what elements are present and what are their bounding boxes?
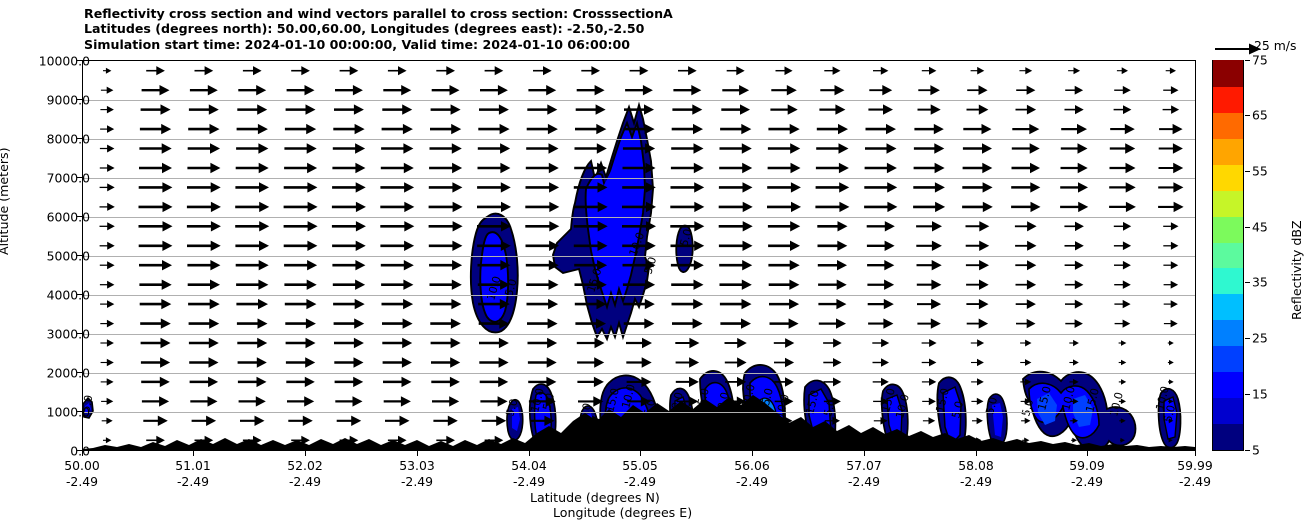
wind-vector-head xyxy=(742,163,752,173)
wind-vector-head xyxy=(1123,86,1131,95)
wind-vector-head xyxy=(156,66,165,75)
wind-vector-head xyxy=(694,163,704,173)
wind-vector-head xyxy=(306,104,316,114)
wind-vector-head xyxy=(401,85,411,95)
wind-vector-head xyxy=(839,182,849,192)
wind-vector-head xyxy=(1077,124,1087,134)
wind-vector-head xyxy=(107,398,114,405)
wind-vector-head xyxy=(693,299,703,309)
wind-vector-head xyxy=(307,280,317,290)
wind-vector-head xyxy=(1075,86,1083,95)
wind-vector-head xyxy=(446,436,455,445)
wind-vector-head xyxy=(404,241,414,251)
wind-vector-head xyxy=(450,357,460,367)
wind-vector-head xyxy=(977,339,984,346)
wind-vector-head xyxy=(499,104,509,114)
xtick-lat-4: 54.04 xyxy=(511,458,546,474)
wind-vector-head xyxy=(1123,320,1131,328)
cb-tick-label-35: 35 xyxy=(1252,275,1268,290)
wind-vector-head xyxy=(356,241,366,251)
wind-vector-head xyxy=(1027,299,1036,309)
wind-vector-head xyxy=(398,66,407,75)
wind-vector-head xyxy=(257,357,267,367)
colorbar-band-2 xyxy=(1213,372,1243,399)
wind-vector-head xyxy=(355,143,365,153)
xtick-mark-10 xyxy=(1195,451,1196,456)
wind-vector-head xyxy=(452,280,462,290)
wind-vector-head xyxy=(500,163,510,173)
wind-vector-head xyxy=(1169,379,1174,384)
wind-vector-head xyxy=(983,182,993,192)
wind-vector-head xyxy=(452,241,462,251)
wind-vector-head xyxy=(258,143,268,153)
xtick-lon-10: -2.49 xyxy=(1177,474,1212,490)
wind-vector-head xyxy=(1171,320,1178,328)
wind-vector-head xyxy=(501,182,511,192)
wind-vector-head xyxy=(1075,222,1084,232)
wind-vector-head xyxy=(257,377,267,387)
cb-tick-label-15: 15 xyxy=(1252,387,1268,402)
wind-vector-head xyxy=(1078,143,1088,153)
wind-vector-head xyxy=(1123,222,1131,231)
wind-vector-head xyxy=(546,85,556,95)
wind-vector-head xyxy=(307,143,317,153)
wind-vector-head xyxy=(107,203,115,211)
wind-vector-head xyxy=(737,338,747,348)
colorbar-band-4 xyxy=(1213,320,1243,347)
wind-vector-head xyxy=(209,318,219,328)
gridline-2000 xyxy=(83,373,1195,374)
wind-vector-head xyxy=(1169,341,1174,346)
wind-vector-head xyxy=(1171,105,1179,114)
wind-vector-head xyxy=(931,104,941,114)
wind-vector-head xyxy=(107,339,114,347)
wind-vector-head xyxy=(1024,438,1029,444)
wind-vector-head xyxy=(547,357,557,367)
wind-vector-head xyxy=(977,359,984,366)
xtick-lon-6: -2.49 xyxy=(734,474,769,490)
wind-vector-head xyxy=(259,182,269,192)
wind-vector-head xyxy=(501,202,511,212)
xtick-mark-6 xyxy=(752,451,753,456)
wind-vector-head xyxy=(210,260,220,270)
y-axis-label: Altitude (meters) xyxy=(0,148,11,255)
wind-vector-head xyxy=(983,202,993,212)
wind-vector-head xyxy=(398,436,407,445)
wind-vector-head xyxy=(789,318,799,328)
wind-vector-head xyxy=(107,145,114,153)
wind-vector-head xyxy=(640,66,649,75)
cb-tick-mark-5 xyxy=(1245,450,1250,451)
wind-vector-head xyxy=(737,357,747,367)
title-line-1: Reflectivity cross section and wind vect… xyxy=(84,6,673,21)
wind-vector-head xyxy=(107,359,114,366)
wind-vector-head xyxy=(935,163,945,173)
wind-vector-head xyxy=(209,104,219,114)
xtick-lat-7: 57.07 xyxy=(846,458,881,474)
wind-vector-head xyxy=(838,221,848,231)
wind-vector-head xyxy=(1126,163,1136,173)
cb-tick-label-75: 75 xyxy=(1252,53,1268,68)
wind-vector-head xyxy=(1171,281,1178,289)
xtick-lat-6: 56.06 xyxy=(734,458,769,474)
gridline-7000 xyxy=(83,178,1195,179)
xtick-lat-10: 59.99 xyxy=(1177,458,1212,474)
wind-vector-head xyxy=(694,143,704,153)
wind-vector-head xyxy=(835,104,845,114)
ytick-mark-2000 xyxy=(77,372,82,373)
wind-vector-head xyxy=(1171,222,1179,230)
wind-vector-head xyxy=(791,163,801,173)
cb-tick-label-65: 65 xyxy=(1252,108,1268,123)
wind-vector-head xyxy=(307,182,317,192)
x-axis-label-longitude: Longitude (degrees E) xyxy=(553,505,692,520)
cb-tick-mark-35 xyxy=(1245,282,1250,283)
wind-vector-head xyxy=(742,280,752,290)
wind-vector-head xyxy=(833,67,841,75)
xtick-lon-4: -2.49 xyxy=(511,474,546,490)
wind-vector-head xyxy=(1125,124,1135,134)
wind-vector-head xyxy=(546,377,556,387)
wind-vector-head xyxy=(402,338,412,348)
wind-vector-head xyxy=(1031,202,1041,212)
ytick-mark-6000 xyxy=(77,216,82,217)
wind-vector-head xyxy=(1025,418,1031,424)
wind-vector-head xyxy=(884,260,894,270)
wind-vector-head xyxy=(929,67,936,75)
wind-vector-head xyxy=(885,221,895,231)
wind-vector-head xyxy=(739,85,749,95)
wind-vector-head xyxy=(402,357,412,367)
wind-vector-head xyxy=(1125,143,1135,153)
wind-vector-head xyxy=(161,338,171,348)
wind-vector-head xyxy=(693,318,703,328)
wind-vector-head xyxy=(1030,163,1040,173)
ytick-mark-7000 xyxy=(77,177,82,178)
wind-vector-head xyxy=(356,221,366,231)
wind-vector-head xyxy=(836,299,846,309)
colorbar-band-12 xyxy=(1213,112,1243,139)
wind-vector-head xyxy=(306,299,316,309)
wind-vector-head xyxy=(161,124,171,134)
colorbar-band-10 xyxy=(1213,164,1243,191)
wind-vector-head xyxy=(156,436,165,445)
wind-vector-head xyxy=(253,66,262,75)
gridline-8000 xyxy=(83,139,1195,140)
wind-vector-head xyxy=(306,318,316,328)
wind-vector-head xyxy=(308,221,318,231)
wind-vector-head xyxy=(549,202,559,212)
ytick-label-6000: 6000.0 xyxy=(47,210,90,225)
wind-vector-head xyxy=(1073,359,1079,365)
xtick-lat-9: 59.09 xyxy=(1069,458,1104,474)
wind-vector-head xyxy=(790,241,800,251)
wind-vector-head xyxy=(883,318,893,328)
wind-vector-head xyxy=(694,182,704,192)
wind-vector-head xyxy=(1174,202,1184,212)
wind-vector-head xyxy=(743,182,753,192)
wind-vector-head xyxy=(642,357,652,367)
figure-canvas: Reflectivity cross section and wind vect… xyxy=(0,0,1304,526)
wind-vector-head xyxy=(355,280,365,290)
ytick-mark-5000 xyxy=(77,255,82,256)
ytick-label-1000: 1000.0 xyxy=(47,405,90,420)
wind-vector-head xyxy=(107,242,115,250)
colorbar-band-7 xyxy=(1213,242,1243,269)
wind-vector-head xyxy=(1025,359,1031,366)
wind-vector-head xyxy=(1122,67,1128,74)
wind-vector-head xyxy=(597,143,607,153)
wind-vector-head xyxy=(106,68,112,74)
colorbar-band-5 xyxy=(1213,294,1243,321)
wind-vector-head xyxy=(787,85,797,95)
wind-vector-head xyxy=(403,318,413,328)
wind-vector-head xyxy=(791,202,801,212)
wind-vector-head xyxy=(158,416,168,426)
wind-vector-head xyxy=(1121,360,1126,366)
wind-vector-head xyxy=(1027,86,1036,95)
xtick-mark-8 xyxy=(976,451,977,456)
title-line-2: Latitudes (degrees north): 50.00,60.00, … xyxy=(84,21,673,36)
wind-vector-head xyxy=(401,396,411,406)
wind-vector-head xyxy=(837,280,847,290)
wind-vector-head xyxy=(934,143,944,153)
xtick-group-4: 54.04 -2.49 xyxy=(511,458,546,489)
wind-vector-head xyxy=(496,416,506,426)
wind-vector-head xyxy=(305,85,315,95)
wind-vector-head xyxy=(839,163,849,173)
wind-vector-head xyxy=(404,182,414,192)
wind-vector-head xyxy=(694,221,704,231)
wind-vector-head xyxy=(791,182,801,192)
wind-vector-head xyxy=(356,182,366,192)
wind-vector-head xyxy=(1027,260,1036,270)
xtick-lon-0: -2.49 xyxy=(64,474,99,490)
wind-vector-head xyxy=(107,87,114,94)
wind-vector-head xyxy=(210,143,220,153)
wind-vector-head xyxy=(645,124,655,134)
wind-vector-head xyxy=(1121,340,1126,346)
wind-vector-head xyxy=(162,163,172,173)
cb-tick-label-45: 45 xyxy=(1252,220,1268,235)
wind-vector-head xyxy=(931,280,941,290)
wind-vector-head xyxy=(839,143,849,153)
wind-vector-head xyxy=(549,182,559,192)
wind-vector-head xyxy=(1173,163,1183,173)
wind-vector-head xyxy=(355,299,365,309)
wind-vector-head xyxy=(836,318,846,328)
wind-vector-head xyxy=(257,338,267,348)
wind-vector-head xyxy=(785,358,794,368)
wind-vector-head xyxy=(208,396,218,406)
xtick-mark-9 xyxy=(1087,451,1088,456)
wind-vector-head xyxy=(353,377,363,387)
wind-vector-head xyxy=(162,241,172,251)
wind-vector-head xyxy=(162,280,172,290)
wind-vector-head xyxy=(107,300,114,308)
wind-vector-head xyxy=(548,318,558,328)
wind-vector-head xyxy=(500,143,510,153)
wind-vector-head xyxy=(161,104,171,114)
xtick-mark-2 xyxy=(305,451,306,456)
wind-vector-head xyxy=(693,124,703,134)
reflectivity-colorbar[interactable] xyxy=(1212,60,1244,451)
wind-vector-head xyxy=(301,66,310,75)
cb-tick-label-25: 25 xyxy=(1252,331,1268,346)
wind-vector-head xyxy=(1075,105,1084,114)
wind-vector-head xyxy=(1173,124,1183,134)
wind-vector-head xyxy=(404,202,414,212)
wind-vector-head xyxy=(886,124,896,134)
ytick-mark-1000 xyxy=(77,411,82,412)
wind-vector-head xyxy=(742,260,752,270)
wind-vector-head xyxy=(1075,319,1083,328)
wind-vector-head xyxy=(107,164,115,172)
wind-vector-head xyxy=(400,416,410,426)
wind-vector-head xyxy=(499,357,509,367)
xtick-lat-1: 51.01 xyxy=(175,458,210,474)
wind-vector-head xyxy=(982,163,992,173)
wind-vector-head xyxy=(979,85,988,95)
wind-vector-head xyxy=(549,280,559,290)
wind-vector-head xyxy=(644,104,654,114)
wind-vector-head xyxy=(355,260,365,270)
wind-vector-head xyxy=(742,299,752,309)
xtick-group-3: 53.03 -2.49 xyxy=(399,458,434,489)
wind-vector-head xyxy=(350,66,359,75)
ytick-mark-8000 xyxy=(77,138,82,139)
wind-vector-head xyxy=(450,377,460,387)
ytick-label-5000: 5000.0 xyxy=(47,249,90,264)
wind-vector-head xyxy=(256,396,266,406)
colorbar-band-9 xyxy=(1213,190,1243,217)
wind-vector-head xyxy=(209,338,219,348)
wind-vector-head xyxy=(353,396,363,406)
wind-vector-head xyxy=(885,241,895,251)
wind-vector-head xyxy=(694,241,704,251)
colorbar-band-6 xyxy=(1213,268,1243,295)
wind-vector-head xyxy=(259,202,269,212)
wind-vector-head xyxy=(106,437,112,443)
wind-vector-head xyxy=(301,436,310,445)
wind-vector-head xyxy=(839,202,849,212)
wind-vector-head xyxy=(1170,68,1176,75)
wind-vector-head xyxy=(982,143,992,153)
wind-vector-head xyxy=(403,299,413,309)
gridline-4000 xyxy=(83,295,1195,296)
wind-vector-head xyxy=(107,106,114,114)
xtick-mark-5 xyxy=(640,451,641,456)
wind-vector-head xyxy=(1126,182,1136,192)
ytick-label-7000: 7000.0 xyxy=(47,171,90,186)
wind-vector-head xyxy=(594,377,604,387)
wind-vector-head xyxy=(881,378,889,386)
xtick-group-10: 59.99 -2.49 xyxy=(1177,458,1212,489)
wind-vector-head xyxy=(596,124,606,134)
wind-vector-head xyxy=(977,67,984,75)
wind-vector-head xyxy=(257,104,267,114)
wind-vector-head xyxy=(402,377,412,387)
wind-vector-head xyxy=(694,280,704,290)
wind-vector-head xyxy=(979,319,988,329)
wind-vector-head xyxy=(209,357,219,367)
wind-vector-head xyxy=(208,377,218,387)
xtick-mark-1 xyxy=(193,451,194,456)
wind-vector-head xyxy=(211,182,221,192)
wind-vector-head xyxy=(498,377,508,387)
wind-vector-head xyxy=(688,66,697,75)
figure-title: Reflectivity cross section and wind vect… xyxy=(84,6,673,52)
wind-vector-head xyxy=(884,280,894,290)
wind-vector-head xyxy=(887,143,897,153)
wind-vector-head xyxy=(979,221,989,231)
wind-vector-head xyxy=(107,125,114,133)
wind-vector-head xyxy=(837,260,847,270)
wind-vector-head xyxy=(785,377,794,387)
wind-vector-head xyxy=(743,241,753,251)
wind-vector-head xyxy=(354,357,364,367)
wind-vector-head xyxy=(495,66,504,75)
wind-vector-head xyxy=(1027,280,1036,290)
cb-tick-mark-55 xyxy=(1245,171,1250,172)
wind-vector-head xyxy=(694,202,704,212)
wind-vector-head xyxy=(929,417,936,424)
colorbar-band-13 xyxy=(1213,86,1243,113)
wind-vector-head xyxy=(785,338,794,348)
wind-vector-head xyxy=(306,124,316,134)
wind-vector-head xyxy=(887,163,897,173)
ytick-mark-3000 xyxy=(77,333,82,334)
wind-vector-head xyxy=(785,66,793,75)
cb-tick-mark-65 xyxy=(1245,115,1250,116)
ytick-mark-9000 xyxy=(77,99,82,100)
wind-vector-head xyxy=(107,378,114,385)
wind-vector-head xyxy=(1171,242,1179,250)
wind-vector-head xyxy=(689,357,699,367)
wind-vector-head xyxy=(743,221,753,231)
wind-vector-head xyxy=(305,357,315,367)
wind-vector-head xyxy=(211,241,221,251)
wind-vector-head xyxy=(740,104,750,114)
wind-vector-head xyxy=(645,280,655,290)
wind-vector-head xyxy=(1078,202,1088,212)
wind-vector-head xyxy=(838,124,848,134)
wind-vector-head xyxy=(404,221,414,231)
wind-vector-head xyxy=(594,357,604,367)
wind-vector-head xyxy=(881,339,889,348)
wind-vector-head xyxy=(1123,280,1131,289)
ytick-label-2000: 2000.0 xyxy=(47,366,90,381)
wind-vector-head xyxy=(929,359,936,367)
wind-vector-head xyxy=(689,377,699,387)
xtick-lon-9: -2.49 xyxy=(1069,474,1104,490)
wind-vector-head xyxy=(1123,105,1131,114)
ytick-label-8000: 8000.0 xyxy=(47,132,90,147)
wind-vector-head xyxy=(837,241,847,251)
wind-vector-head xyxy=(547,104,557,114)
wind-vector-head xyxy=(308,202,318,212)
wind-vector-head xyxy=(979,241,989,251)
cb-tick-mark-75 xyxy=(1245,60,1250,61)
colorbar-band-11 xyxy=(1213,138,1243,165)
xtick-group-5: 55.05 -2.49 xyxy=(622,458,657,489)
wind-vector-head xyxy=(307,260,317,270)
xtick-lat-0: 50.00 xyxy=(64,458,99,474)
xtick-mark-7 xyxy=(864,451,865,456)
wind-vector-head xyxy=(255,416,265,426)
wind-vector-head xyxy=(210,163,220,173)
wind-vector-head xyxy=(306,338,316,348)
